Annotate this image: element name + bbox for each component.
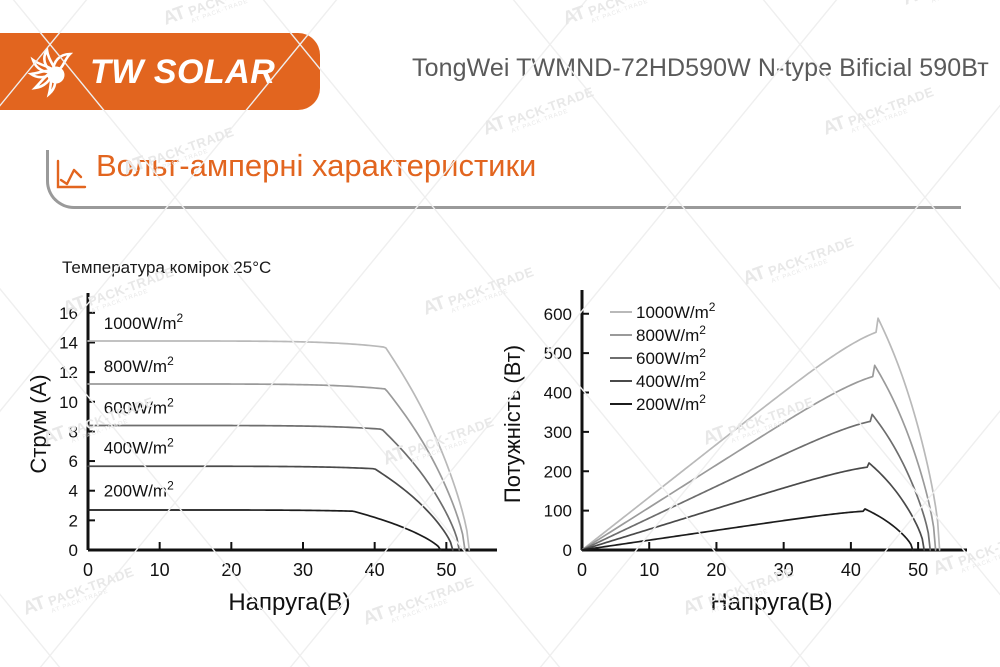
legend-label: 400W/m2 [636, 369, 706, 391]
iv-series-200-line [88, 510, 441, 550]
y-axis-title: Струм (А) [26, 374, 51, 473]
x-axis-title: Напруга(В) [228, 589, 350, 616]
legend-label: 1000W/m2 [636, 300, 716, 322]
y-tick-label: 100 [544, 502, 572, 521]
y-tick-label: 600 [544, 305, 572, 324]
pv-curve-chart: 0100200300400500600010203040501000W/m280… [490, 250, 990, 620]
iv-curve-svg: 0246810121416010203040501000W/m2800W/m26… [20, 250, 500, 620]
page-header: TW SOLAR TongWei TWMND-72HD590W N-type B… [0, 0, 1000, 120]
brand-logo-solar: SOLAR [154, 53, 276, 91]
iv-series-400-line [88, 466, 453, 550]
x-tick-label: 10 [150, 560, 170, 580]
brand-logo-tw: TW [90, 55, 144, 89]
y-tick-label: 300 [544, 423, 572, 442]
x-tick-label: 0 [83, 560, 93, 580]
pv-curve-svg: 0100200300400500600010203040501000W/m280… [490, 250, 990, 620]
x-tick-label: 20 [706, 560, 726, 580]
y-tick-label: 2 [69, 511, 78, 530]
y-tick-label: 10 [59, 393, 78, 412]
y-tick-label: 16 [59, 304, 78, 323]
cell-temperature-note: Температура комірок 25°C [62, 258, 271, 278]
section-title: Вольт-амперні характеристики [96, 148, 536, 184]
x-tick-label: 30 [774, 560, 794, 580]
y-tick-label: 500 [544, 344, 572, 363]
iv-series-label: 400W/m2 [104, 436, 174, 458]
x-axis-title: Напруга(В) [710, 589, 832, 616]
section-heading: Вольт-амперні характеристики [46, 150, 958, 212]
iv-curve-chart: Температура комірок 25°C 024681012141601… [20, 250, 500, 620]
pv-series-200-line [582, 509, 913, 550]
legend-label: 600W/m2 [636, 346, 706, 368]
iv-series-label: 200W/m2 [104, 479, 174, 501]
sun-swirl-icon [26, 45, 80, 99]
pv-series-600-line [582, 414, 930, 550]
x-tick-label: 50 [908, 560, 928, 580]
iv-series-label: 600W/m2 [104, 396, 174, 418]
legend-label: 800W/m2 [636, 323, 706, 345]
iv-series-label: 1000W/m2 [104, 311, 184, 333]
y-tick-label: 6 [69, 452, 78, 471]
legend-label: 200W/m2 [636, 392, 706, 414]
product-title: TongWei TWMND-72HD590W N-type Bificial 5… [412, 54, 989, 83]
line-chart-icon [54, 158, 88, 192]
y-tick-label: 0 [69, 541, 78, 560]
x-tick-label: 20 [221, 560, 241, 580]
x-tick-label: 50 [436, 560, 456, 580]
y-axis-title: Потужність (Вт) [500, 345, 525, 503]
x-tick-label: 0 [577, 560, 587, 580]
y-tick-label: 8 [69, 422, 78, 441]
y-tick-label: 14 [59, 333, 78, 352]
x-tick-label: 40 [841, 560, 861, 580]
y-tick-label: 200 [544, 462, 572, 481]
page-root: AT PACK-TRADEAT PACK-TRADEAT PACK-TRADEA… [0, 0, 1000, 667]
x-tick-label: 40 [365, 560, 385, 580]
y-tick-label: 0 [563, 541, 572, 560]
pv-series-800-line [582, 365, 936, 550]
x-tick-label: 30 [293, 560, 313, 580]
y-tick-label: 4 [69, 482, 78, 501]
y-tick-label: 12 [59, 363, 78, 382]
pv-series-400-line [582, 463, 924, 550]
brand-logo-text: TW SOLAR [90, 55, 275, 89]
x-tick-label: 10 [639, 560, 659, 580]
iv-series-label: 800W/m2 [104, 354, 174, 376]
y-tick-label: 400 [544, 384, 572, 403]
brand-logo-bar: TW SOLAR [0, 33, 320, 110]
